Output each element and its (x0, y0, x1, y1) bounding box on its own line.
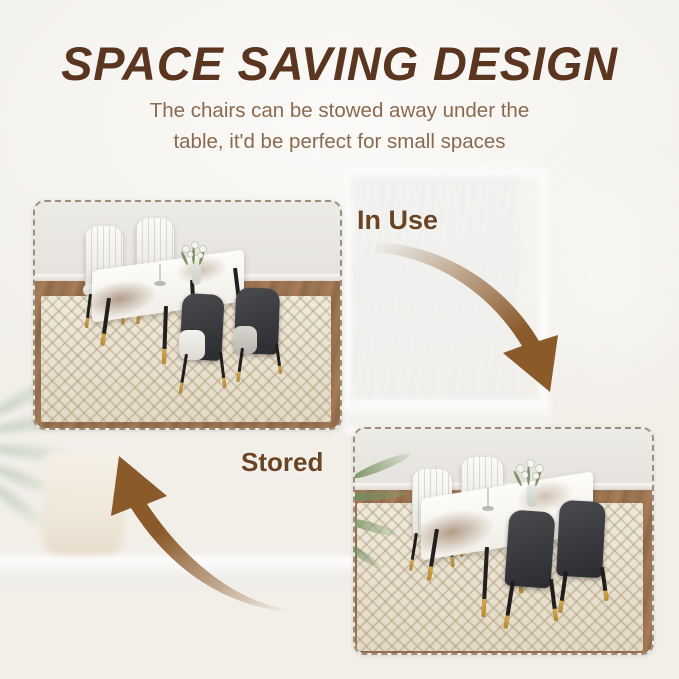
candle (487, 487, 489, 507)
scene-in-use (35, 202, 340, 428)
photo-panel-in-use[interactable] (33, 200, 342, 430)
candle-base (482, 506, 494, 511)
label-stored: Stored (241, 447, 323, 478)
page-subtitle: The chairs can be stowed away under the … (0, 95, 679, 157)
flower-vase (527, 485, 537, 507)
candle-base (154, 281, 166, 286)
subtitle-line-1: The chairs can be stowed away under the (150, 99, 529, 122)
arrow-in-use-to-stored (372, 240, 602, 410)
label-in-use: In Use (357, 205, 438, 236)
potted-plant (355, 465, 415, 565)
flower-vase (192, 264, 201, 285)
scene-stored (355, 429, 652, 653)
candle (159, 264, 161, 282)
infographic-root: SPACE SAVING DESIGN The chairs can be st… (0, 0, 679, 679)
page-title: SPACE SAVING DESIGN (0, 36, 679, 91)
subtitle-line-2: table, it'd be perfect for small spaces (0, 126, 679, 157)
photo-panel-stored[interactable] (353, 427, 654, 655)
